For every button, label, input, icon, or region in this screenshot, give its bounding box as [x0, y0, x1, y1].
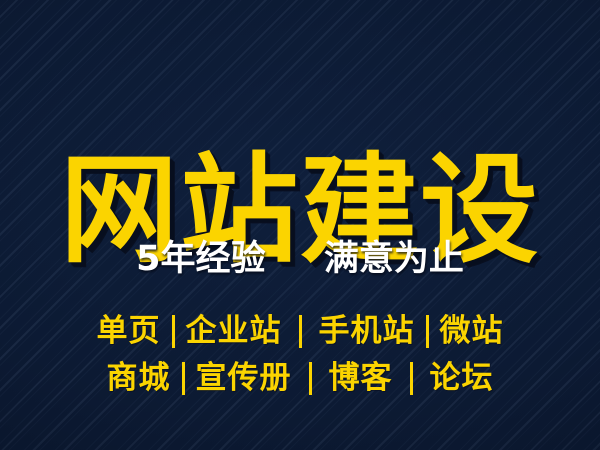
service-separator-icon: [410, 362, 413, 395]
service-list: 单页 企业站 手机站 微站 商城 宣传册 博客 论坛: [0, 308, 600, 402]
service-row: 商城 宣传册 博客 论坛: [0, 355, 600, 402]
service-separator-icon: [426, 315, 429, 348]
service-item-weizhan[interactable]: 微站: [440, 316, 504, 347]
promo-poster: 网站建设 5年经验 满意为止 单页 企业站 手机站 微站 商城 宣传册 博客: [0, 0, 600, 450]
service-item-xuanchuance[interactable]: 宣传册: [196, 363, 292, 394]
poster-content: 网站建设 5年经验 满意为止 单页 企业站 手机站 微站 商城 宣传册 博客: [0, 0, 600, 450]
service-item-luntan[interactable]: 论坛: [430, 363, 494, 394]
service-row: 单页 企业站 手机站 微站: [0, 308, 600, 355]
subtitle-left: 5年经验: [136, 239, 265, 279]
service-item-boke[interactable]: 博客: [329, 363, 393, 394]
service-separator-icon: [172, 315, 175, 348]
service-separator-icon: [299, 315, 302, 348]
service-item-qiyezhan[interactable]: 企业站: [186, 316, 282, 347]
service-item-danye[interactable]: 单页: [97, 316, 161, 347]
service-separator-icon: [182, 362, 185, 395]
subtitle-right: 满意为止: [324, 239, 464, 279]
service-item-shangcheng[interactable]: 商城: [107, 363, 171, 394]
service-item-shoujizhan[interactable]: 手机站: [319, 316, 415, 347]
subtitle: 5年经验 满意为止: [0, 240, 600, 279]
service-separator-icon: [309, 362, 312, 395]
